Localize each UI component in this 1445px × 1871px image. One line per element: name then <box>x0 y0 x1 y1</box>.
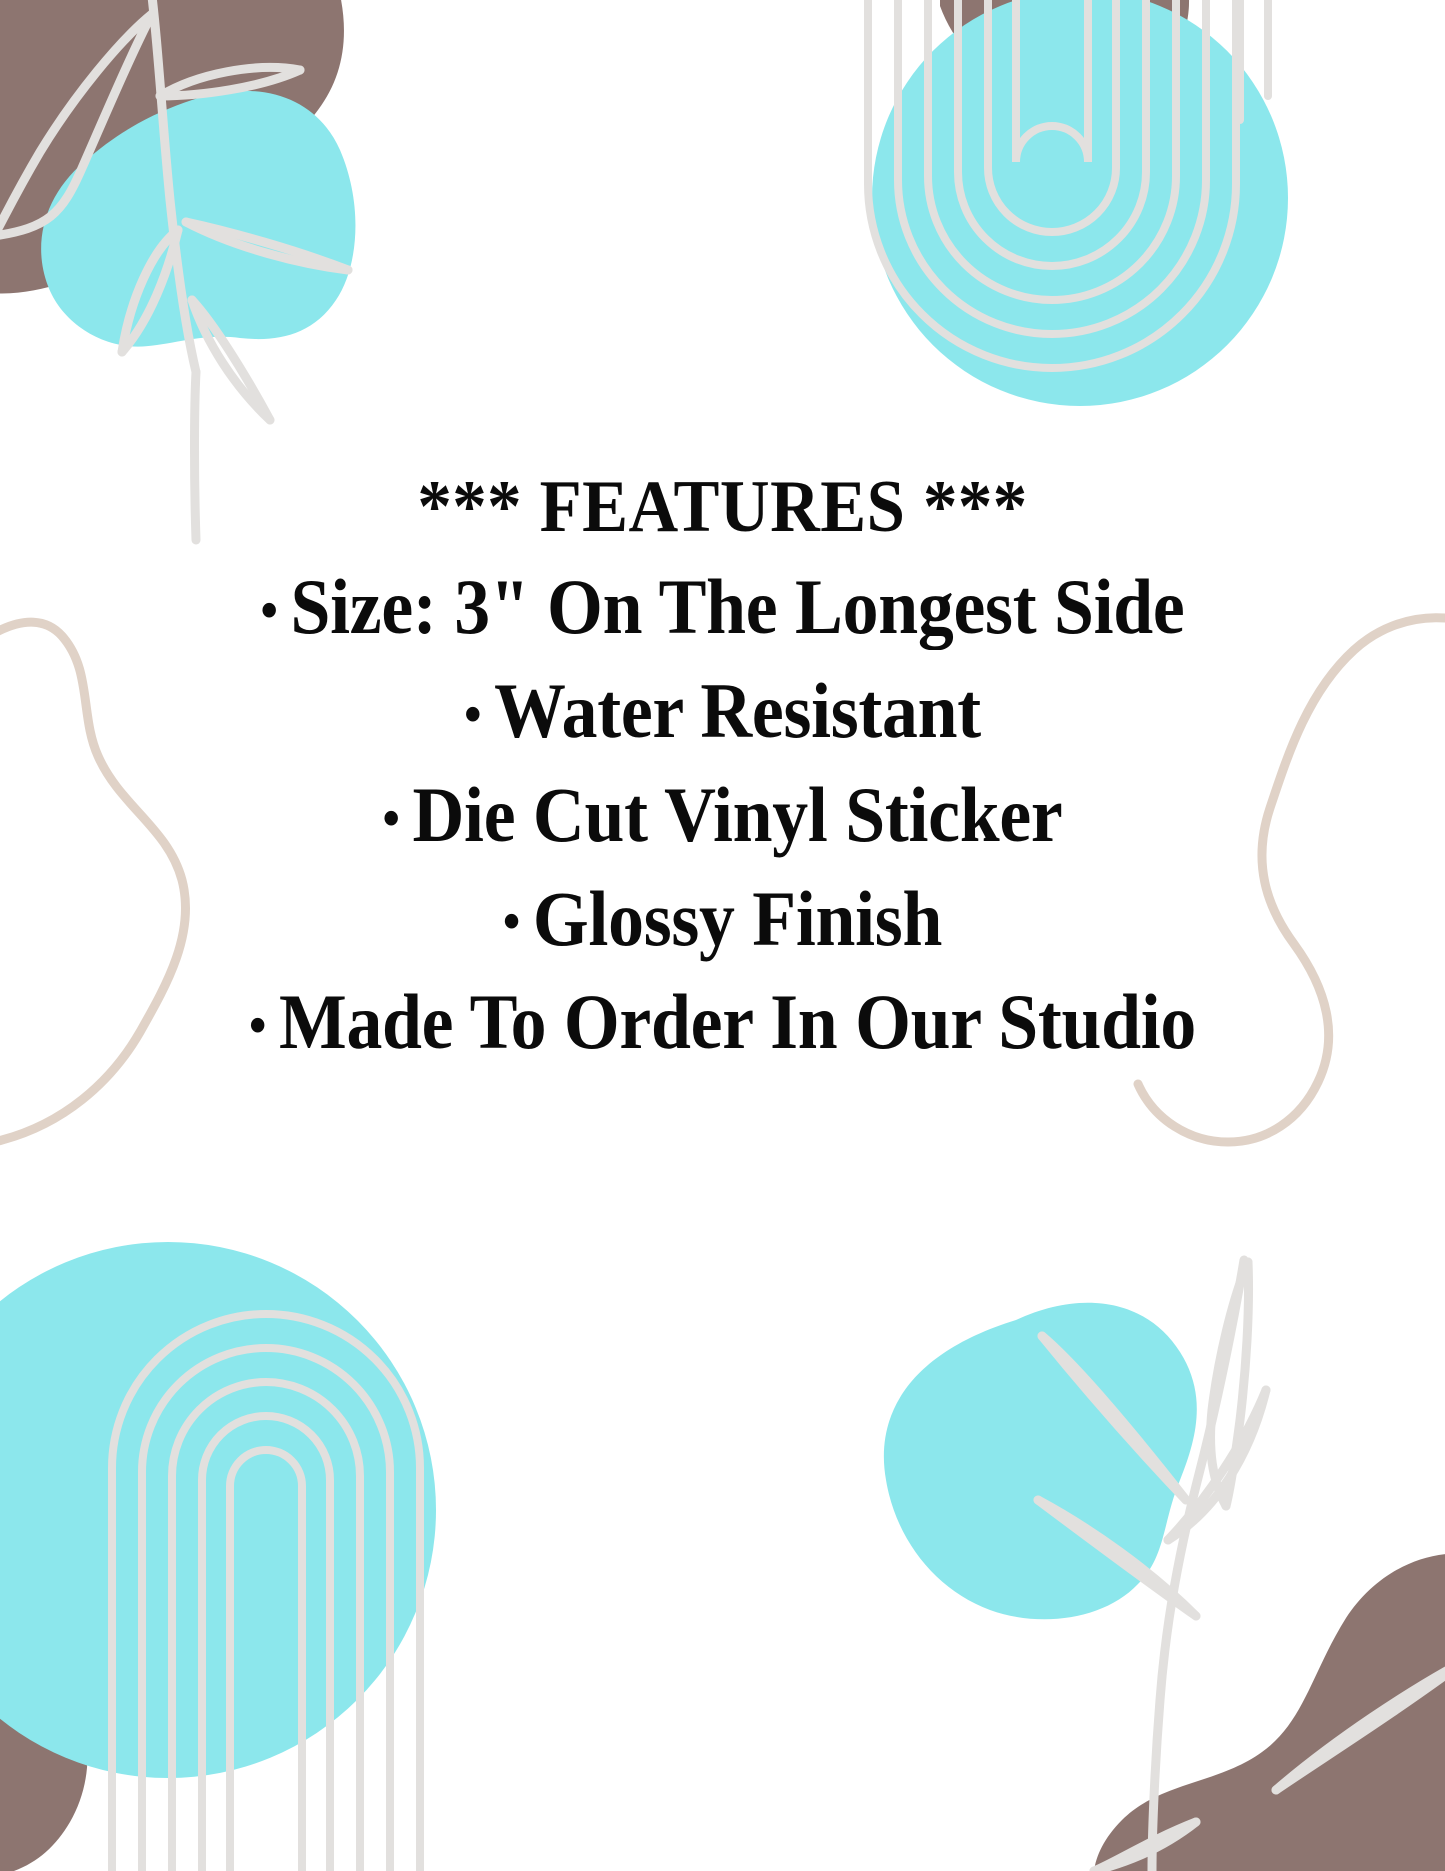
list-item-label: Die Cut Vinyl Sticker <box>412 763 1062 867</box>
list-item-label: Size: 3" On The Longest Side <box>290 555 1184 659</box>
bullet-icon: • <box>249 990 266 1062</box>
bullet-icon: • <box>382 783 399 855</box>
list-item: •Size: 3" On The Longest Side <box>58 555 1387 659</box>
features-graphic-canvas: *** FEATURES *** •Size: 3" On The Longes… <box>0 0 1445 1871</box>
bullet-icon: • <box>260 575 277 647</box>
list-item: •Die Cut Vinyl Sticker <box>58 763 1387 867</box>
features-text-block: *** FEATURES *** •Size: 3" On The Longes… <box>0 470 1445 1074</box>
bottom-left-arch-lines <box>112 1314 420 1871</box>
bottom-left-cyan-circle <box>0 1242 436 1778</box>
list-item: •Water Resistant <box>58 659 1387 763</box>
list-item: •Made To Order In Our Studio <box>58 970 1387 1074</box>
bottom-left-brown-blob <box>0 1637 88 1871</box>
list-item-label: Glossy Finish <box>533 867 942 971</box>
bottom-right-cyan-blob <box>884 1303 1197 1620</box>
top-right-brown-blob <box>940 0 1189 99</box>
bottom-right-leaf-lineart <box>1038 1260 1445 1871</box>
bullet-icon: • <box>503 886 520 958</box>
bottom-right-brown-blob <box>1094 1553 1445 1871</box>
list-item-label: Made To Order In Our Studio <box>279 970 1196 1074</box>
top-right-cyan-circle <box>872 0 1288 406</box>
top-left-cyan-blob <box>41 91 355 347</box>
top-right-arch-lines <box>868 0 1268 368</box>
list-item: •Glossy Finish <box>58 867 1387 971</box>
list-item-label: Water Resistant <box>494 659 981 763</box>
top-left-brown-blob <box>0 0 344 316</box>
features-title: *** FEATURES *** <box>51 470 1395 545</box>
features-list: •Size: 3" On The Longest Side •Water Res… <box>0 555 1445 1074</box>
top-left-leaf-lineart <box>0 0 348 540</box>
bullet-icon: • <box>464 679 481 751</box>
